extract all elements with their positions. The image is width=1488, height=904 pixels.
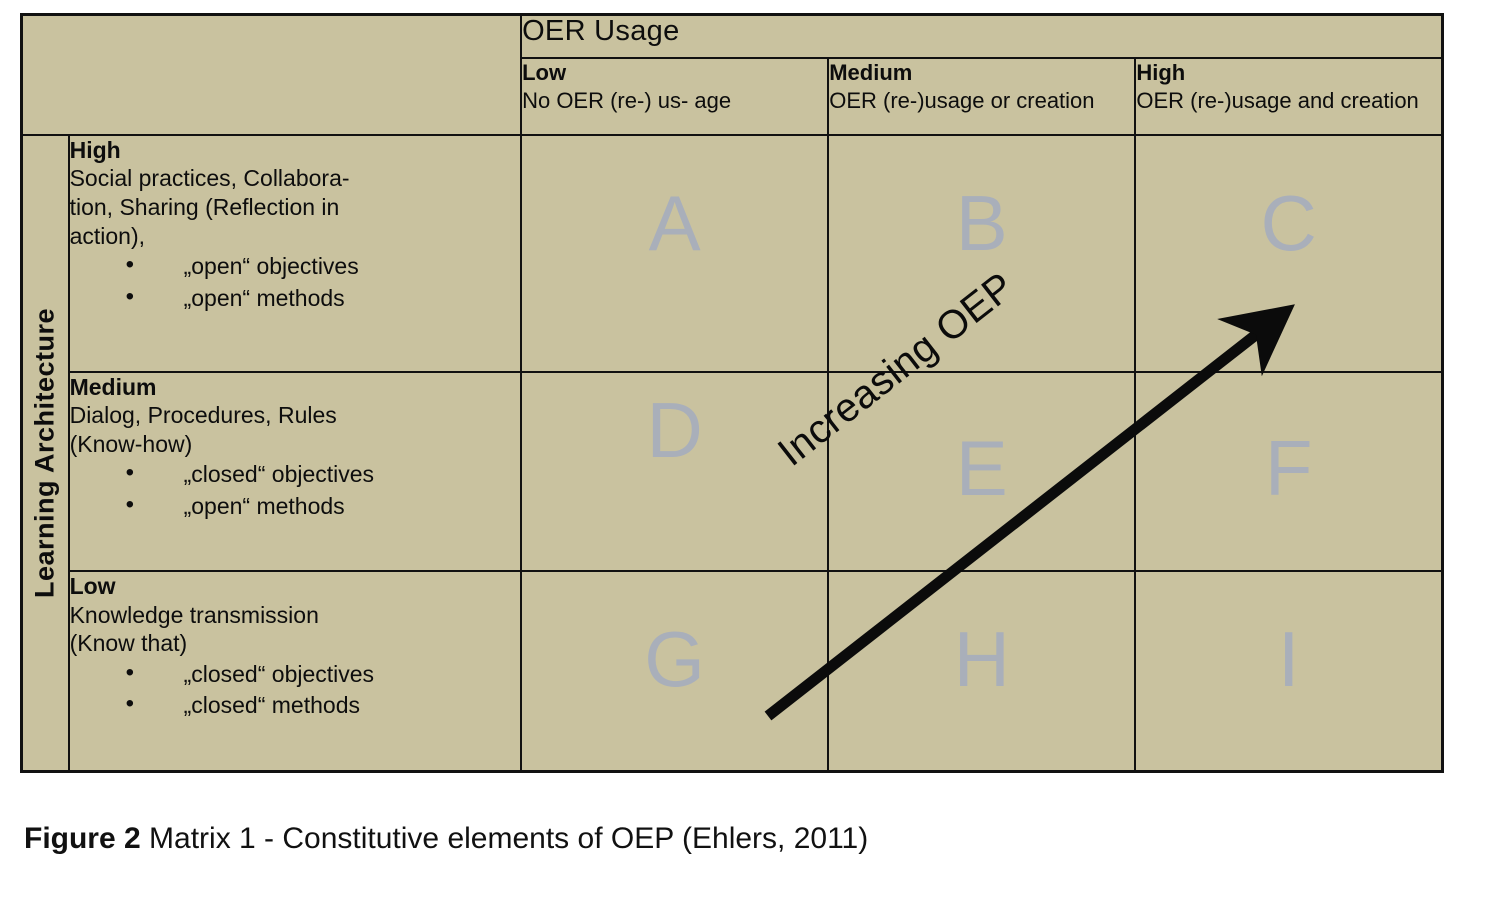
- list-item: „closed“ objectives: [126, 460, 521, 489]
- matrix-cell-G[interactable]: G: [521, 571, 828, 771]
- column-header-high-level: High: [1136, 59, 1441, 88]
- list-item: „open“ methods: [126, 284, 521, 313]
- row-header-low: Low Knowledge transmission (Know that) „…: [69, 571, 522, 771]
- row-header-medium-level: Medium: [70, 373, 521, 402]
- row-header-high-desc: Social practices, Collabora- tion, Shari…: [70, 164, 521, 250]
- row-header-medium-desc: Dialog, Procedures, Rules (Know-how): [70, 401, 521, 458]
- table-row: Medium Dialog, Procedures, Rules (Know-h…: [22, 372, 1443, 572]
- matrix-cell-C[interactable]: C: [1135, 135, 1442, 372]
- row-header-medium-bullets: „closed“ objectives „open“ methods: [70, 460, 521, 520]
- column-header-medium-level: Medium: [829, 59, 1134, 88]
- matrix-cell-I[interactable]: I: [1135, 571, 1442, 771]
- matrix-cell-label-F: F: [1265, 429, 1313, 507]
- list-item: „open“ objectives: [126, 252, 521, 281]
- column-header-low-level: Low: [522, 59, 827, 88]
- table-header-row-axis: OER Usage: [22, 15, 1443, 58]
- figure-oep-matrix: OER Usage Low No OER (re-) us- age Mediu…: [0, 0, 1488, 904]
- corner-blank-cell: [22, 15, 522, 135]
- row-header-low-level: Low: [70, 572, 521, 601]
- table-row: Learning Architecture High Social practi…: [22, 135, 1443, 372]
- row-header-low-desc: Knowledge transmission (Know that): [70, 601, 521, 658]
- table-row: Low Knowledge transmission (Know that) „…: [22, 571, 1443, 771]
- matrix-cell-label-G: G: [644, 620, 705, 698]
- column-header-high-desc: OER (re-)usage and creation: [1136, 87, 1441, 116]
- row-header-low-bullets: „closed“ objectives „closed“ methods: [70, 660, 521, 720]
- column-header-low-desc: No OER (re-) us- age: [522, 87, 827, 116]
- oep-matrix-table: OER Usage Low No OER (re-) us- age Mediu…: [20, 13, 1444, 773]
- matrix-cell-label-I: I: [1278, 620, 1300, 698]
- matrix-cell-H[interactable]: H: [828, 571, 1135, 771]
- row-header-high-level: High: [70, 136, 521, 165]
- column-header-medium: Medium OER (re-)usage or creation: [828, 58, 1135, 135]
- column-axis-title: OER Usage: [521, 15, 1442, 58]
- matrix-cell-F[interactable]: F: [1135, 372, 1442, 572]
- column-header-high: High OER (re-)usage and creation: [1135, 58, 1442, 135]
- matrix-cell-label-E: E: [956, 429, 1008, 507]
- matrix-cell-label-H: H: [954, 620, 1010, 698]
- figure-caption: Figure 2 Matrix 1 - Constitutive element…: [24, 822, 868, 856]
- figure-number: Figure 2: [24, 822, 141, 855]
- matrix-cell-label-A: A: [649, 184, 701, 262]
- matrix-cell-D[interactable]: D: [521, 372, 828, 572]
- row-header-medium: Medium Dialog, Procedures, Rules (Know-h…: [69, 372, 522, 572]
- row-header-high: High Social practices, Collabora- tion, …: [69, 135, 522, 372]
- matrix-cell-label-B: B: [956, 184, 1008, 262]
- matrix-cell-label-D: D: [646, 391, 702, 469]
- list-item: „closed“ objectives: [126, 660, 521, 689]
- list-item: „closed“ methods: [126, 691, 521, 720]
- figure-caption-text: Matrix 1 - Constitutive elements of OEP …: [141, 822, 869, 855]
- row-axis-title-cell: Learning Architecture: [22, 135, 69, 772]
- list-item: „open“ methods: [126, 492, 521, 521]
- column-header-low: Low No OER (re-) us- age: [521, 58, 828, 135]
- matrix-cell-A[interactable]: A: [521, 135, 828, 372]
- column-header-medium-desc: OER (re-)usage or creation: [829, 87, 1134, 116]
- matrix-cell-B[interactable]: B: [828, 135, 1135, 372]
- row-header-high-bullets: „open“ objectives „open“ methods: [70, 252, 521, 312]
- row-axis-title: Learning Architecture: [30, 308, 61, 598]
- matrix-cell-label-C: C: [1260, 184, 1316, 262]
